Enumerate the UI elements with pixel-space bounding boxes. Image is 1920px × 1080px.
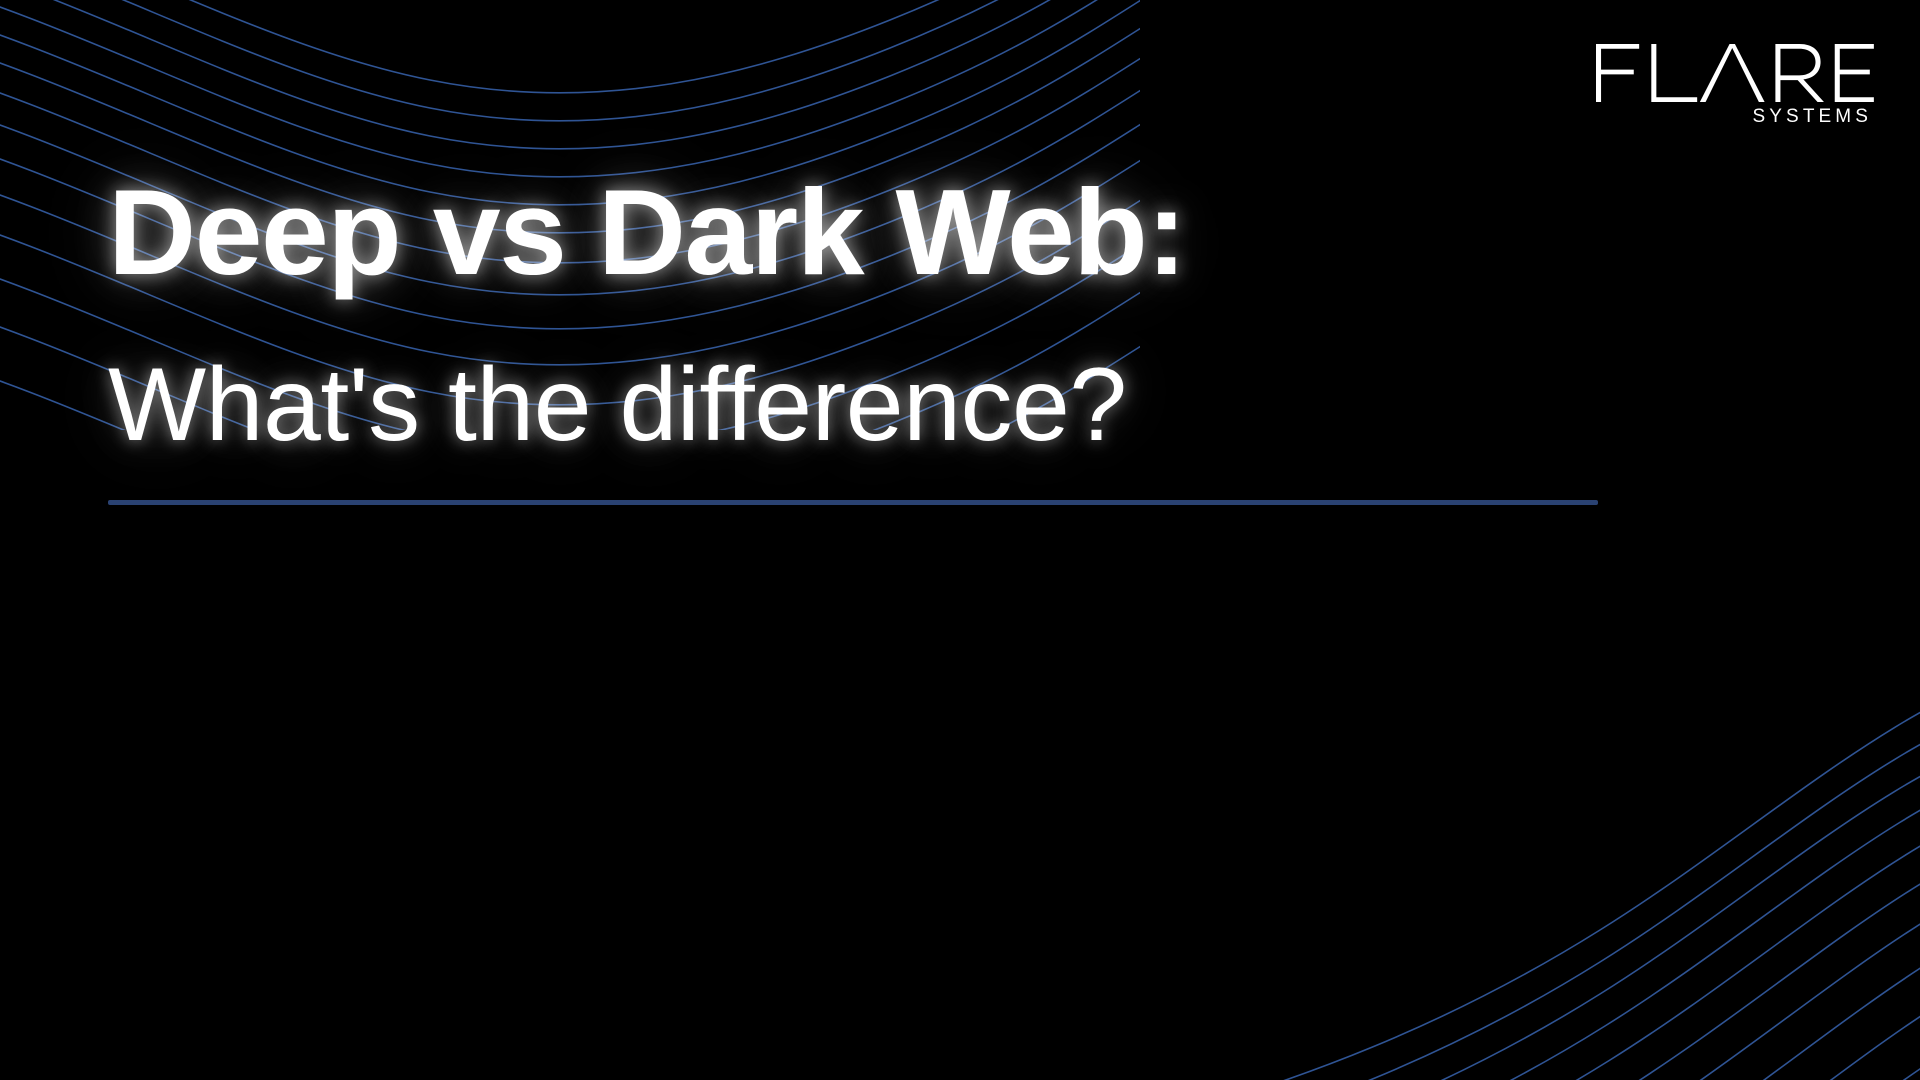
page-title: Deep vs Dark Web: <box>108 168 1668 297</box>
brand-logo: SYSTEMS <box>1596 44 1874 126</box>
wave-lines-decoration-bottom-right <box>800 600 1920 1080</box>
wave-lines-icon <box>800 660 1920 1080</box>
flare-wordmark-icon <box>1596 44 1874 102</box>
title-slide: SYSTEMS Deep vs Dark Web: What's the dif… <box>0 0 1920 1080</box>
headline-block: Deep vs Dark Web: What's the difference? <box>108 168 1668 505</box>
page-subtitle: What's the difference? <box>108 349 1668 461</box>
brand-subwordmark: SYSTEMS <box>1596 107 1872 126</box>
headline-divider <box>108 500 1598 505</box>
